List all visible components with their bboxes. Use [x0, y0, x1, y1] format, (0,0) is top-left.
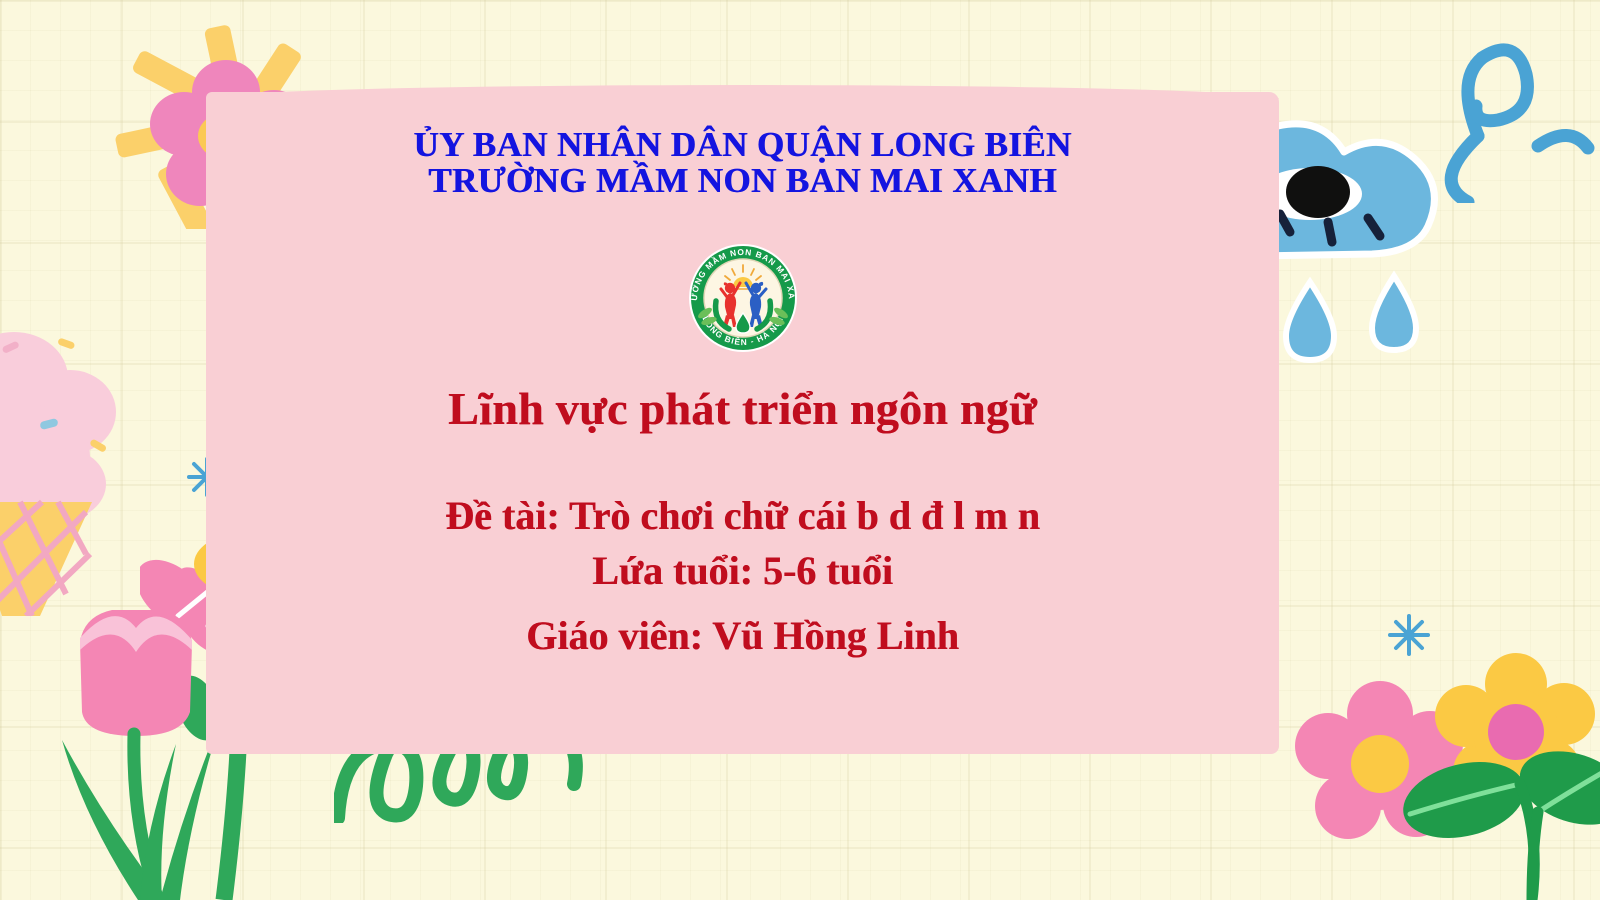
- sparkle-right: [1386, 612, 1432, 658]
- yellow-flower-bottom-right: [1432, 648, 1600, 818]
- ice-cream-icon: [0, 332, 116, 616]
- cone-crosshatch: [0, 502, 90, 616]
- topic-line: Đề tài: Trò chơi chữ cái b d đ l m n: [206, 492, 1279, 539]
- tulip-stems: [134, 734, 158, 900]
- school-logo: TRƯỜNG MẦM NON BAN MAI XANH LONG BIÊN - …: [683, 239, 803, 354]
- cone-icon: [0, 502, 92, 616]
- leaf-icon: [1395, 740, 1600, 900]
- leaf-stems: [1520, 784, 1538, 900]
- eye-pupil: [1286, 166, 1350, 218]
- blue-squiggle-top-right: [1420, 28, 1600, 203]
- leaf-cluster-bottom-right: [1392, 740, 1600, 900]
- sprinkles-icon: [0, 337, 107, 454]
- flower-icon: [1295, 681, 1463, 839]
- grass-leaves: [62, 716, 222, 900]
- flower-icon: [1435, 653, 1595, 803]
- presentation-slide: ỦY BAN NHÂN DÂN QUẬN LONG BIÊN TRƯỜNG MẦ…: [0, 0, 1600, 900]
- leaf-veins: [1410, 766, 1600, 814]
- eyelash-marks: [1280, 214, 1380, 242]
- flower-center: [1351, 735, 1409, 793]
- age-group-line: Lứa tuổi: 5-6 tuổi: [206, 547, 1279, 594]
- ice-cream-left: [0, 316, 152, 616]
- flower-center: [1488, 704, 1544, 760]
- subject-area-title: Lĩnh vực phát triển ngôn ngữ: [206, 382, 1279, 435]
- sparkle-icon: [1390, 616, 1428, 654]
- organization-line-2: TRƯỜNG MẦM NON BAN MAI XANH: [206, 160, 1279, 203]
- slide-content: ỦY BAN NHÂN DÂN QUẬN LONG BIÊN TRƯỜNG MẦ…: [206, 92, 1279, 754]
- pink-flower-bottom-right: [1290, 676, 1470, 856]
- teacher-line: Giáo viên: Vũ Hồng Linh: [206, 612, 1279, 659]
- tulip-icon: [80, 610, 192, 736]
- squiggle-icon: [1451, 50, 1588, 202]
